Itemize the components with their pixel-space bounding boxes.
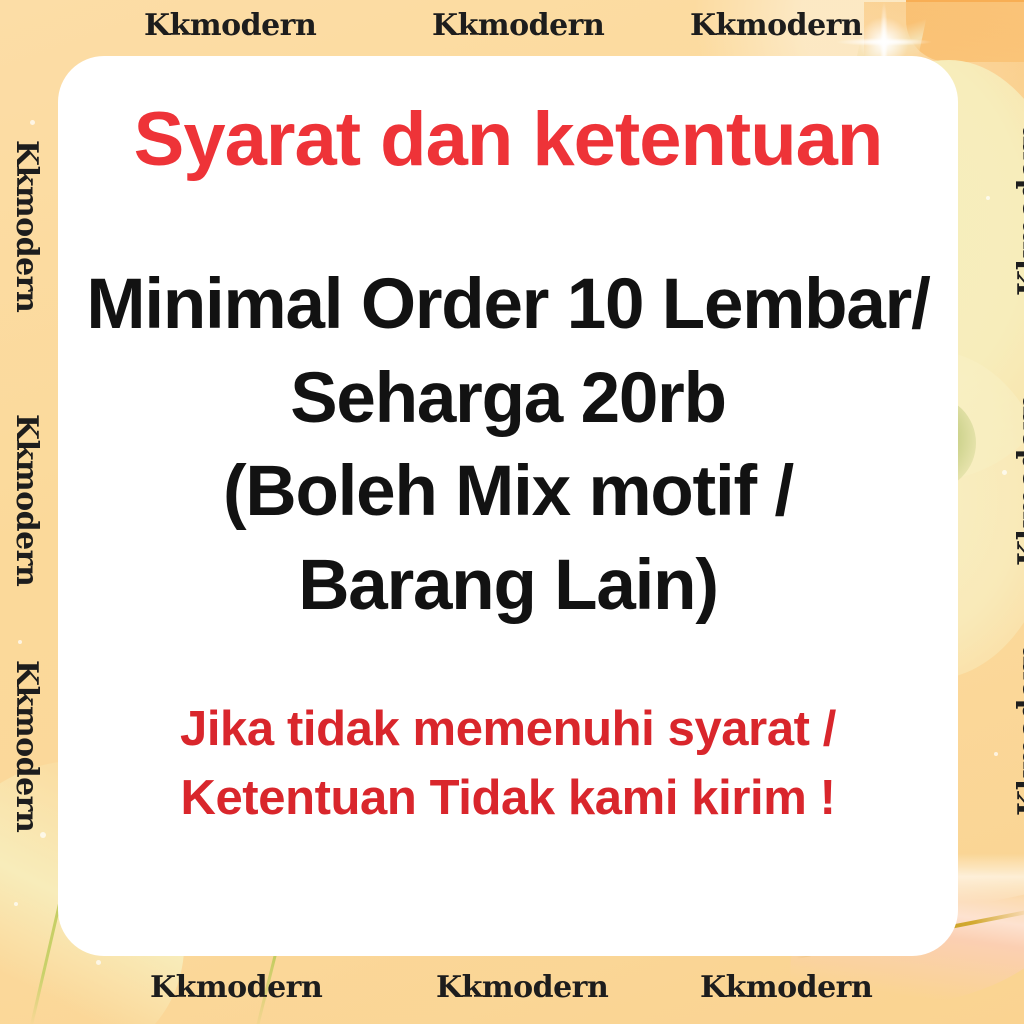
terms-body-line-4: Barang Lain) <box>86 539 929 633</box>
terms-warning-line-1: Jika tidak memenuhi syarat / <box>180 695 836 765</box>
orange-corner-shape <box>906 0 1024 62</box>
terms-card: Syarat dan ketentuan Minimal Order 10 Le… <box>58 56 958 956</box>
terms-warning-line-2: Ketentuan Tidak kami kirim ! <box>180 764 836 834</box>
sparkle-dot <box>40 832 46 838</box>
terms-body-line-3: (Boleh Mix motif / <box>86 445 929 539</box>
sparkle-dot <box>14 902 18 906</box>
sparkle-dot <box>986 196 990 200</box>
sparkle-dot <box>994 752 998 756</box>
terms-warning: Jika tidak memenuhi syarat / Ketentuan T… <box>180 695 836 834</box>
sparkle-dot <box>18 640 22 644</box>
terms-body-line-2: Seharga 20rb <box>86 352 929 446</box>
page-title: Syarat dan ketentuan <box>134 100 883 180</box>
terms-body: Minimal Order 10 Lembar/ Seharga 20rb (B… <box>86 258 929 633</box>
sparkle-dot <box>1002 470 1007 475</box>
terms-body-line-1: Minimal Order 10 Lembar/ <box>86 258 929 352</box>
sparkle-dot <box>96 960 101 965</box>
sparkle-dot <box>30 120 35 125</box>
